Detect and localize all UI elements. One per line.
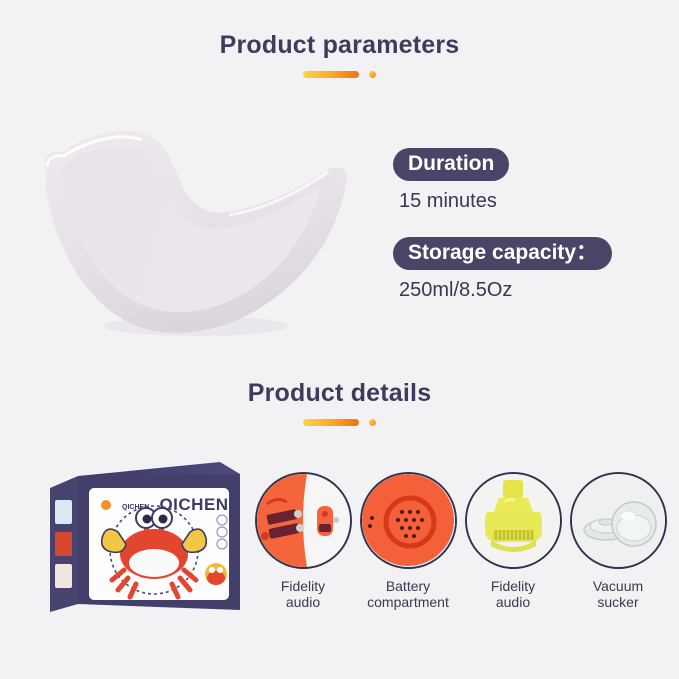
decoration-dot-icon [369, 419, 376, 426]
caption-line-2: audio [255, 594, 351, 610]
list-item[interactable]: Vacuum sucker [570, 472, 666, 610]
caption-line-1: Fidelity [255, 578, 351, 594]
list-item[interactable]: Fidelity audio [465, 472, 561, 610]
list-item[interactable]: Fidelity audio [255, 472, 351, 610]
page-title: Product parameters [0, 33, 679, 58]
product-listing-page: Product parameters [0, 0, 679, 679]
caption-line-2: audio [465, 594, 561, 610]
heading-decoration [0, 71, 679, 78]
list-item[interactable]: Battery compartment [360, 472, 456, 610]
parameters-list: Duration 15 minutes Storage capacity： 25… [393, 148, 663, 301]
decoration-dot-icon [369, 71, 376, 78]
circuit-board-icon [255, 472, 352, 569]
list-item-label: Battery compartment [360, 578, 456, 610]
status-badge-duration: Duration [393, 148, 509, 181]
decoration-bar-icon [303, 419, 359, 426]
decoration-bar-icon [303, 71, 359, 78]
parameter-value-duration: 15 minutes [399, 190, 663, 212]
status-badge-storage-capacity: Storage capacity： [393, 237, 612, 270]
heading-decoration-details [0, 419, 679, 426]
bubble-nozzle-icon [465, 472, 562, 569]
section-title-details: Product details [0, 381, 679, 406]
product-details-heading: Product details [0, 381, 679, 426]
caption-line-2: compartment [360, 594, 456, 610]
product-package-box: QICHEN QICHEN [44, 458, 244, 618]
caption-line-1: Fidelity [465, 578, 561, 594]
caption-line-1: Vacuum [570, 578, 666, 594]
parameter-row-storage: Storage capacity： 250ml/8.5Oz [393, 237, 663, 301]
parameter-value-storage-capacity: 250ml/8.5Oz [399, 279, 663, 301]
product-photo [28, 112, 358, 357]
product-parameters-heading: Product parameters [0, 33, 679, 78]
caption-line-1: Battery [360, 578, 456, 594]
caption-line-2: sucker [570, 594, 666, 610]
detail-thumbnail-list: Fidelity audio [255, 472, 675, 610]
list-item-label: Fidelity audio [465, 578, 561, 610]
suction-cup-icon [570, 472, 667, 569]
parameter-row-duration: Duration 15 minutes [393, 148, 663, 212]
speaker-grille-icon [360, 472, 457, 569]
list-item-label: Fidelity audio [255, 578, 351, 610]
list-item-label: Vacuum sucker [570, 578, 666, 610]
